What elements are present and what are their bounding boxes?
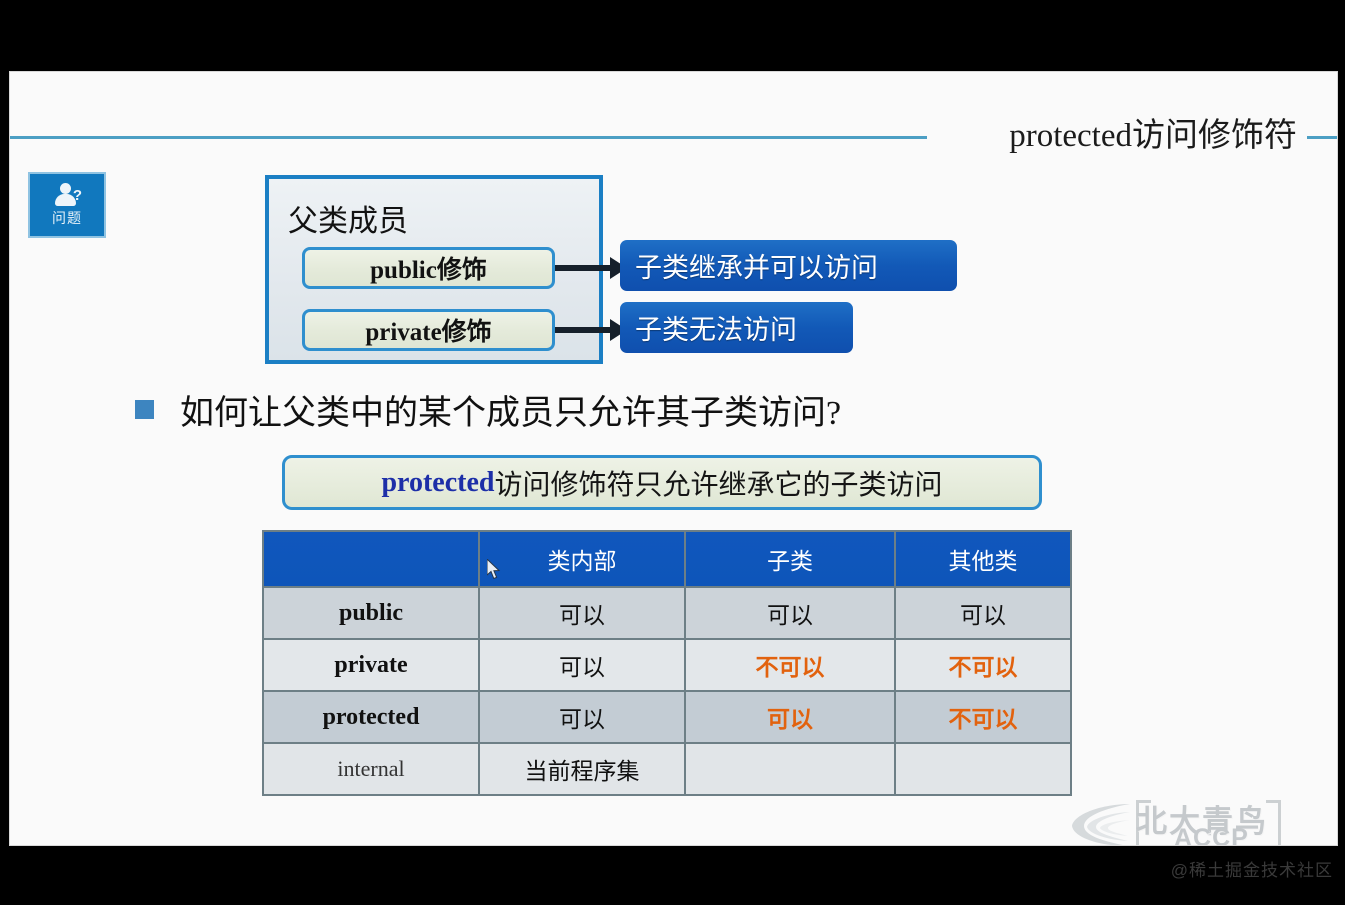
table-header-cell-1: 类内部 — [479, 531, 685, 587]
header-rule-right — [1307, 136, 1337, 139]
table-cell-inside: 当前程序集 — [479, 743, 685, 795]
swoosh-icon — [1070, 802, 1132, 845]
question-badge: ? 问题 — [28, 172, 106, 238]
answer-text: 访问修饰符只允许继承它的子类访问 — [494, 463, 942, 503]
table-header-row: 类内部 子类 其他类 — [263, 531, 1071, 587]
parent-class-title: 父类成员 — [288, 196, 408, 240]
table-cell-inside: 可以 — [479, 639, 685, 691]
answer-callout: protected访问修饰符只允许继承它的子类访问 — [282, 455, 1042, 510]
table-cell-other: 不可以 — [895, 691, 1071, 743]
table-row: internal 当前程序集 — [263, 743, 1071, 795]
header-rule-left — [10, 136, 927, 139]
table-cell-subclass: 不可以 — [685, 639, 895, 691]
table-row: protected 可以 可以 不可以 — [263, 691, 1071, 743]
video-player: protected访问修饰符 ? 问题 父类成员 public修饰 privat… — [0, 0, 1345, 905]
presentation-slide: protected访问修饰符 ? 问题 父类成员 public修饰 privat… — [10, 72, 1337, 845]
person-question-icon: ? — [54, 183, 80, 207]
table-cell-subclass: 可以 — [685, 691, 895, 743]
logo-bracket-right — [1266, 800, 1281, 845]
table-cell-other: 不可以 — [895, 639, 1071, 691]
table-header-cell-3: 其他类 — [895, 531, 1071, 587]
table-header-cell-0 — [263, 531, 479, 587]
table-cell-subclass: 可以 — [685, 587, 895, 639]
access-modifier-table: 类内部 子类 其他类 public 可以 可以 可以 private 可以 不可… — [262, 530, 1072, 796]
table-cell-modifier: public — [263, 587, 479, 639]
table-header-cell-2: 子类 — [685, 531, 895, 587]
table-cell-other — [895, 743, 1071, 795]
table-cell-subclass — [685, 743, 895, 795]
table-cell-modifier: protected — [263, 691, 479, 743]
table-cell-modifier: internal — [263, 743, 479, 795]
result-box-public: 子类继承并可以访问 — [620, 240, 957, 291]
arrow-right-icon-private — [555, 327, 612, 333]
slide-title: protected访问修饰符 — [1009, 108, 1297, 156]
arrow-right-icon-public — [555, 265, 612, 271]
brand-name-en: ACCP — [1174, 824, 1249, 845]
member-chip-public: public修饰 — [302, 247, 555, 289]
bullet-question-text: 如何让父类中的某个成员只允许其子类访问? — [180, 385, 841, 434]
community-watermark: @稀土掘金技术社区 — [1171, 856, 1333, 881]
member-chip-private: private修饰 — [302, 309, 555, 351]
table-row: private 可以 不可以 不可以 — [263, 639, 1071, 691]
table-cell-inside: 可以 — [479, 587, 685, 639]
bullet-question-row: 如何让父类中的某个成员只允许其子类访问? — [135, 385, 841, 434]
question-badge-label: 问题 — [52, 208, 82, 228]
answer-keyword: protected — [381, 467, 494, 499]
table-cell-inside: 可以 — [479, 691, 685, 743]
brand-logo: 北大青鸟 ACCP — [1070, 798, 1285, 845]
result-box-private: 子类无法访问 — [620, 302, 853, 353]
table-cell-other: 可以 — [895, 587, 1071, 639]
table-cell-modifier: private — [263, 639, 479, 691]
square-bullet-icon — [135, 400, 154, 419]
table-row: public 可以 可以 可以 — [263, 587, 1071, 639]
